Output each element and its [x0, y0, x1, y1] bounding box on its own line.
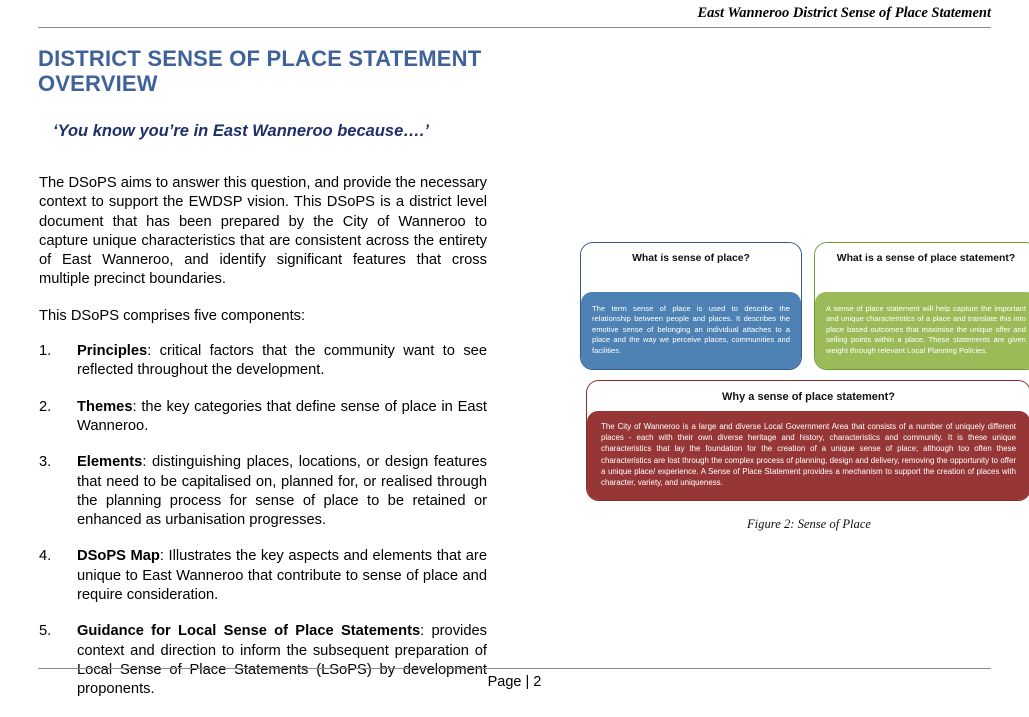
list-item-body: DSoPS Map: Illustrates the key aspects a…: [77, 547, 487, 605]
components-list: 1. Principles: critical factors that the…: [39, 342, 487, 699]
card-body-text: The City of Wanneroo is a large and dive…: [587, 411, 1029, 500]
card-what-is-sense-of-place: What is sense of place? The term sense o…: [580, 242, 802, 370]
list-item: 2. Themes: the key categories that defin…: [39, 398, 487, 437]
list-item-marker: 1.: [39, 342, 77, 381]
document-page: East Wanneroo District Sense of Place St…: [0, 0, 1029, 702]
list-item-body: Elements: distinguishing places, locatio…: [77, 453, 487, 530]
body-column: The DSoPS aims to answer this question, …: [39, 174, 487, 717]
list-item-term: Principles: [77, 343, 147, 359]
card-heading: What is a sense of place statement?: [815, 243, 1029, 292]
card-body-text: A sense of place statement will help cap…: [815, 292, 1029, 369]
list-item-term: Guidance for Local Sense of Place Statem…: [77, 623, 420, 639]
list-item-term: Elements: [77, 454, 142, 470]
document-header: East Wanneroo District Sense of Place St…: [38, 2, 991, 28]
intro-paragraph: The DSoPS aims to answer this question, …: [39, 174, 487, 290]
card-what-is-a-sense-of-place-statement: What is a sense of place statement? A se…: [814, 242, 1029, 370]
card-body-text: The term sense of place is used to descr…: [581, 292, 801, 369]
header-divider: [38, 27, 991, 28]
list-item-marker: 2.: [39, 398, 77, 437]
page-title-line-2: OVERVIEW: [38, 71, 494, 96]
page-title-line-1: DISTRICT SENSE OF PLACE STATEMENT: [38, 46, 494, 71]
page-number: Page | 2: [38, 674, 991, 690]
list-item-marker: 3.: [39, 453, 77, 530]
footer-divider: [38, 668, 991, 669]
list-item: 4. DSoPS Map: Illustrates the key aspect…: [39, 547, 487, 605]
page-title: DISTRICT SENSE OF PLACE STATEMENT OVERVI…: [38, 46, 494, 96]
document-footer: Page | 2: [38, 668, 991, 690]
card-why-a-sense-of-place-statement: Why a sense of place statement? The City…: [586, 380, 1029, 501]
list-item-term: DSoPS Map: [77, 548, 160, 564]
pull-quote: ‘You know you’re in East Wanneroo becaus…: [53, 122, 429, 141]
running-header-title: East Wanneroo District Sense of Place St…: [38, 2, 991, 24]
list-item-body: Principles: critical factors that the co…: [77, 342, 487, 381]
components-lead-in: This DSoPS comprises five components:: [39, 307, 487, 326]
figure-sense-of-place: What is sense of place? The term sense o…: [580, 242, 1029, 532]
list-item-term: Themes: [77, 399, 133, 415]
card-heading: Why a sense of place statement?: [587, 381, 1029, 411]
figure-caption: Figure 2: Sense of Place: [580, 517, 1029, 532]
list-item-text: : the key categories that define sense o…: [77, 399, 487, 434]
card-heading: What is sense of place?: [581, 243, 801, 292]
list-item: 3. Elements: distinguishing places, loca…: [39, 453, 487, 530]
list-item: 1. Principles: critical factors that the…: [39, 342, 487, 381]
list-item-marker: 4.: [39, 547, 77, 605]
list-item-body: Themes: the key categories that define s…: [77, 398, 487, 437]
figure-top-row: What is sense of place? The term sense o…: [580, 242, 1029, 370]
